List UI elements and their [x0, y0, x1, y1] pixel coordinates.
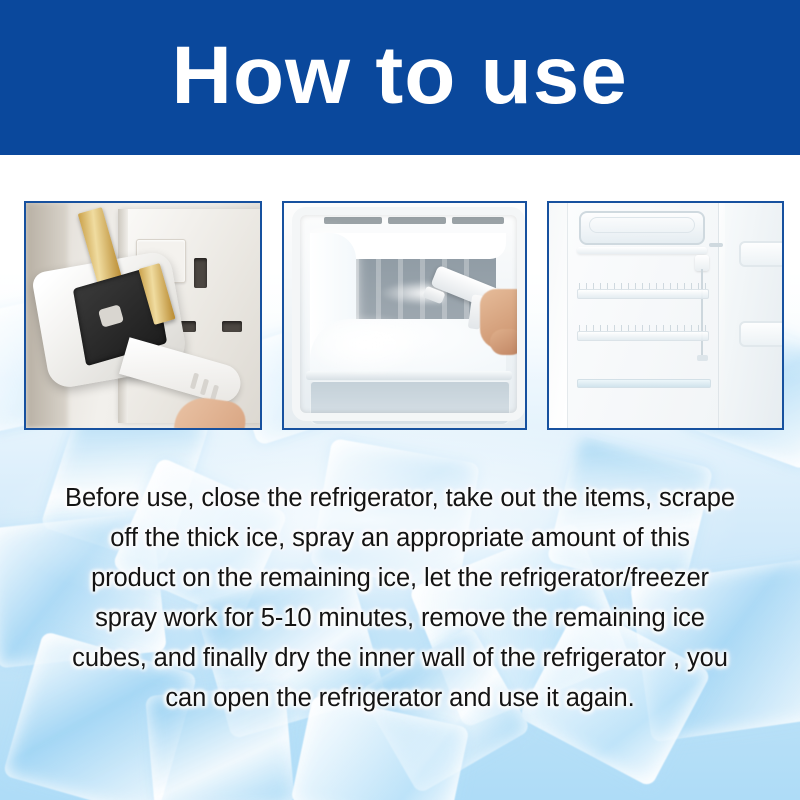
instruction-line: Before use, close the refrigerator, take… — [40, 478, 760, 518]
panel-clean-fridge — [547, 201, 784, 430]
power-plug-illustration — [26, 203, 260, 428]
header-banner: How to use — [0, 0, 800, 155]
instruction-line: product on the remaining ice, let the re… — [40, 558, 760, 598]
instruction-line: can open the refrigerator and use it aga… — [40, 678, 760, 718]
instruction-paragraph: Before use, close the refrigerator, take… — [40, 478, 760, 718]
spray-freezer-illustration — [284, 203, 525, 428]
panel-power-plug — [24, 201, 262, 430]
page-title: How to use — [172, 35, 628, 117]
clean-fridge-illustration — [549, 203, 782, 428]
instruction-line: cubes, and finally dry the inner wall of… — [40, 638, 760, 678]
instruction-line: spray work for 5-10 minutes, remove the … — [40, 598, 760, 638]
how-to-use-infographic: How to use — [0, 0, 800, 800]
panel-spray-freezer — [282, 201, 527, 430]
instruction-line: off the thick ice, spray an appropriate … — [40, 518, 760, 558]
step-image-row — [24, 201, 784, 430]
